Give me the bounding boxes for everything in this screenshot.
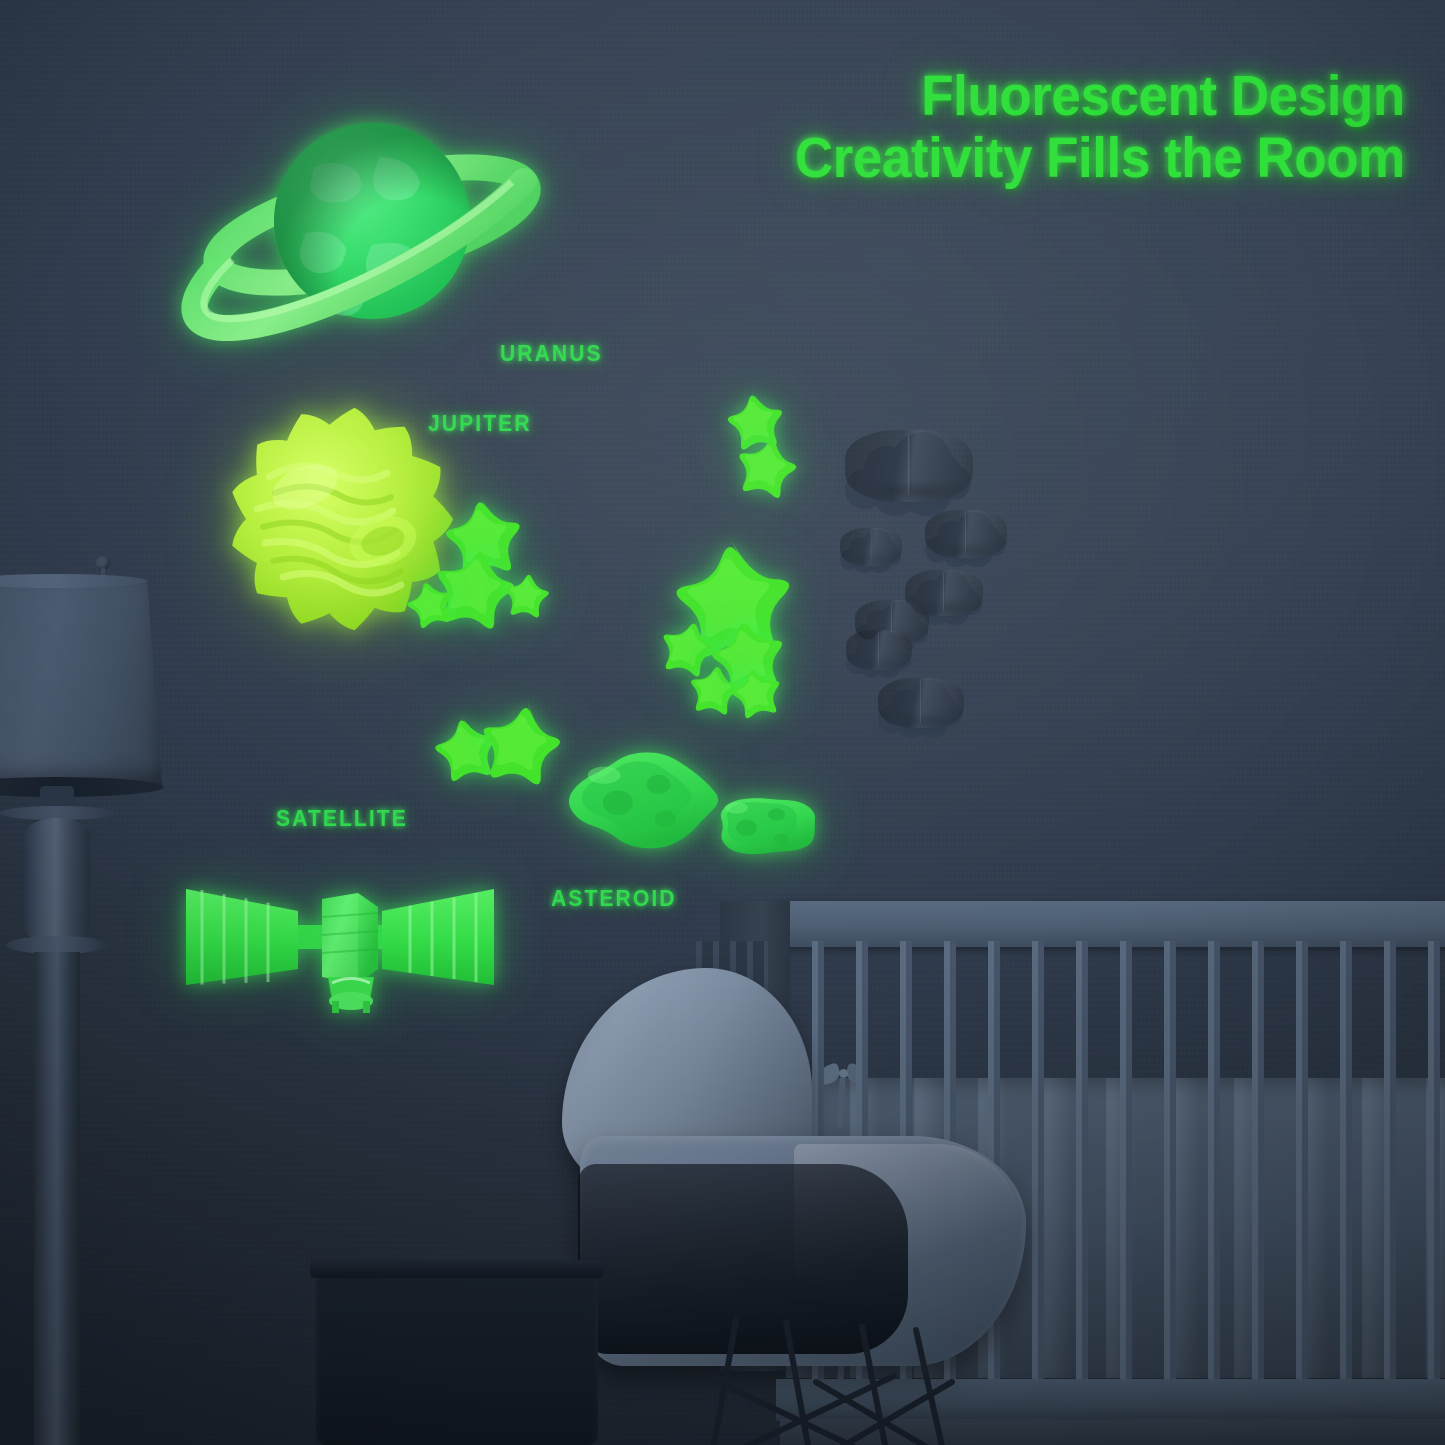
star-decal bbox=[712, 650, 802, 740]
headline-line-2: Creativity Fills the Room bbox=[795, 128, 1405, 190]
paper-cloud bbox=[840, 528, 902, 566]
headline: Fluorescent Design Creativity Fills the … bbox=[795, 66, 1405, 189]
paper-cloud bbox=[925, 510, 1007, 558]
lamp-lower-column bbox=[34, 952, 80, 1445]
chair-wire-base bbox=[666, 1316, 1066, 1445]
storage-basket bbox=[316, 1266, 598, 1445]
satellite-decal bbox=[180, 873, 500, 1008]
nursery-glow-decal-photo: URANUSJUPITERSATELLITEASTEROID Fluoresce… bbox=[0, 0, 1445, 1445]
storage-basket-rim bbox=[310, 1260, 604, 1278]
lamp-socket bbox=[40, 786, 74, 806]
cloud-center-fold bbox=[908, 434, 911, 495]
label-satellite: SATELLITE bbox=[276, 805, 408, 832]
floor-lamp bbox=[0, 550, 186, 1445]
paper-cloud bbox=[845, 430, 973, 502]
lamp-upper-column bbox=[24, 818, 90, 944]
star-decal bbox=[486, 557, 567, 638]
star-decal bbox=[389, 564, 473, 648]
label-uranus: URANUS bbox=[500, 340, 603, 367]
headline-line-1: Fluorescent Design bbox=[795, 66, 1405, 128]
planet-uranus bbox=[202, 105, 542, 345]
lamp-shade-bottom-rim bbox=[0, 777, 164, 797]
lamp-shade bbox=[0, 580, 162, 786]
label-asteroid: ASTEROID bbox=[551, 885, 677, 912]
label-jupiter: JUPITER bbox=[428, 410, 532, 437]
paper-cloud bbox=[878, 678, 964, 728]
asteroid-small bbox=[704, 785, 829, 867]
shell-chair bbox=[556, 968, 1036, 1445]
paper-cloud bbox=[846, 630, 912, 670]
